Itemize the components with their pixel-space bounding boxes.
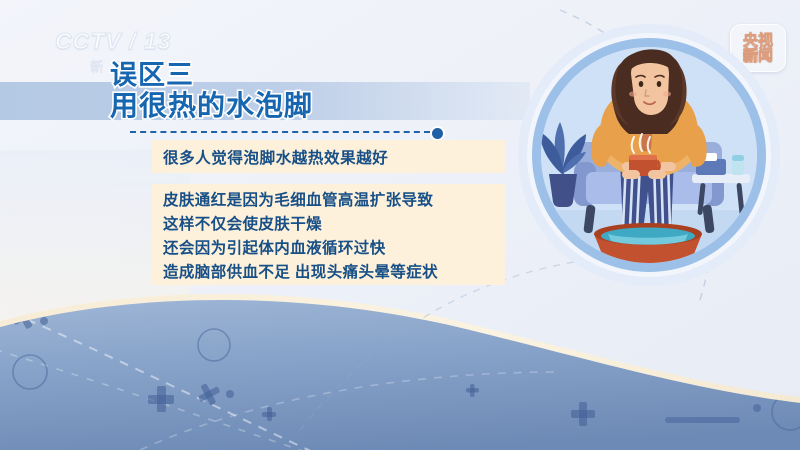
broadcast-graphic-stage: CCTV / 13 新闻 央 视 新 闻 误区三 用很热的水泡脚 很多人觉得泡脚… [0, 0, 800, 450]
headline-line-2: 用很热的水泡脚 [110, 92, 530, 121]
subtitle-text: 很多人觉得泡脚水越热效果越好 [163, 146, 388, 168]
dashed-connector-endpoint [430, 126, 445, 141]
cctv-logo-slash: / [129, 28, 136, 54]
body-line: 还会因为引起体内血液循环过快 [163, 237, 523, 261]
body-line: 这样不仅会使皮肤干燥 [163, 213, 523, 237]
body-line: 皮肤通红是因为毛细血管高温扩张导致 [163, 189, 523, 213]
dashed-connector-line [130, 131, 430, 133]
page-title: 误区三 用很热的水泡脚 [110, 62, 530, 120]
body-text-block: 皮肤通红是因为毛细血管高温扩张导致 这样不仅会使皮肤干燥 还会因为引起体内血液循… [163, 189, 523, 285]
body-line: 造成脑部供血不足 出现头痛头晕等症状 [163, 261, 523, 285]
cctv-logo-text: CCTV [55, 28, 122, 54]
cctv-logo-main: CCTV / 13 [55, 28, 171, 55]
illustration-foot-soaking [516, 22, 782, 288]
cctv-logo-number: 13 [144, 28, 172, 54]
headline-line-1: 误区三 [110, 62, 530, 90]
head [611, 49, 686, 134]
